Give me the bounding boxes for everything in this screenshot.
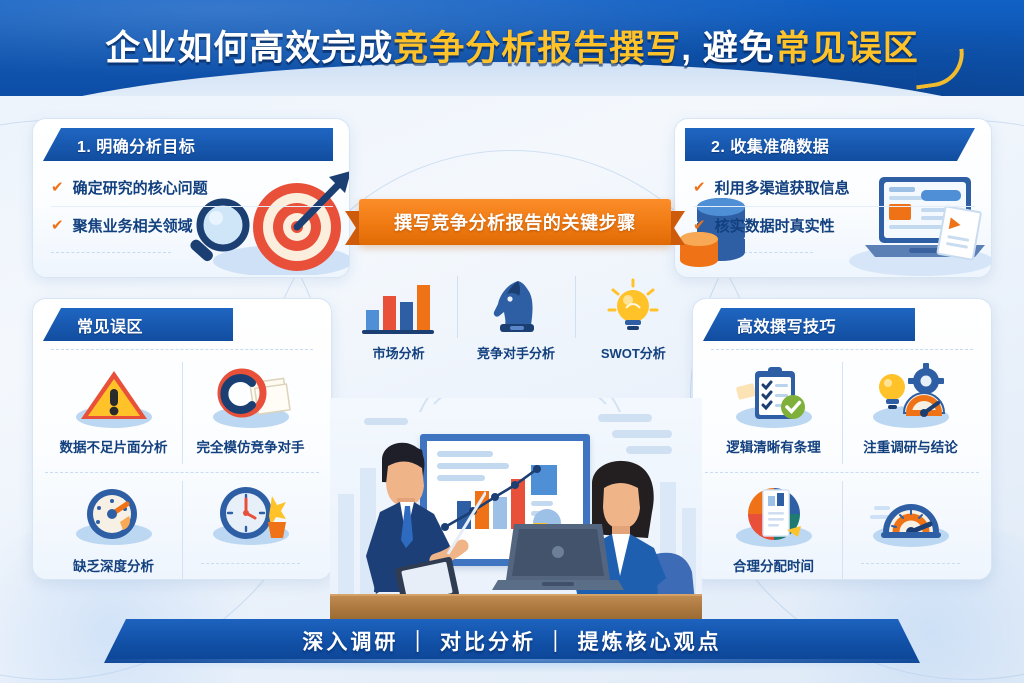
warning-triangle-icon: [71, 360, 157, 432]
mistake-label: 完全模仿竞争对手: [197, 436, 305, 456]
center-ribbon: 撰写竞争分析报告的关键步骤: [345, 199, 685, 251]
list-item-label: 确定研究的核心问题: [73, 177, 208, 198]
lightbulb-icon: [605, 278, 661, 336]
step-label: 市场分析: [373, 343, 425, 362]
page-title-part3: , 避免: [681, 29, 774, 68]
tip-label: 注重调研与结论: [863, 436, 958, 456]
key-steps-row: 市场分析 竞争对手分析: [340, 266, 692, 362]
step-label: 竞争对手分析: [477, 343, 555, 362]
gauge-icon: [71, 479, 157, 551]
tip-label-placeholder: [861, 563, 960, 564]
list-item[interactable]: ✔ 聚焦业务相关领域: [51, 206, 333, 243]
footer-text: 深入调研 ｜ 对比分析 ｜ 提炼核心观点: [302, 626, 721, 656]
grid-row: 逻辑清晰有条理: [705, 354, 979, 472]
tip-item-4[interactable]: [842, 473, 979, 580]
page-title: 企业如何高效完成竞争分析报告撰写, 避免常见误区: [0, 20, 1024, 71]
check-icon: ✔: [51, 218, 64, 233]
mistake-item-2[interactable]: 完全模仿竞争对手: [182, 354, 319, 472]
business-presentation-illustration: [330, 398, 702, 630]
page-title-part1: 企业如何高效完成: [105, 29, 393, 68]
mistake-label: 数据不足片面分析: [60, 436, 168, 456]
bar-chart-icon: [360, 278, 438, 336]
ribbon-label: 撰写竞争分析报告的关键步骤: [359, 199, 671, 245]
mistake-label-placeholder: [201, 563, 300, 564]
tip-label: 合理分配时间: [733, 555, 814, 575]
pie-chart-report-icon: [731, 479, 817, 551]
tip-item-3[interactable]: 合理分配时间: [705, 473, 842, 580]
panel-collect-data-list: ✔ 利用多渠道获取信息 ✔ 核实数据时真实性: [675, 161, 991, 243]
panel-writing-tips: 高效撰写技巧: [692, 298, 992, 580]
check-icon: ✔: [693, 180, 706, 195]
list-item-label: 利用多渠道获取信息: [715, 177, 850, 198]
lightbulb-gear-gauge-icon: [868, 360, 954, 432]
panel-divider: [51, 252, 171, 253]
list-item-label: 核实数据时真实性: [715, 215, 835, 236]
grid-row: 缺乏深度分析: [45, 472, 319, 580]
page-title-part2: 竞争分析报告撰写: [393, 29, 681, 68]
grid-row: 合理分配时间: [705, 472, 979, 580]
mistake-label: 缺乏深度分析: [73, 555, 154, 575]
laptop-icon: [492, 518, 628, 604]
speedometer-icon: [868, 479, 954, 551]
tip-item-2[interactable]: 注重调研与结论: [842, 354, 979, 472]
prohibition-copy-icon: [208, 360, 294, 432]
grid-row: 数据不足片面分析 完全模仿竞争对手: [45, 354, 319, 472]
panel-define-goals-heading: 1. 明确分析目标: [43, 128, 333, 161]
page-title-part4: 常见误区: [775, 29, 919, 68]
list-item[interactable]: ✔ 利用多渠道获取信息: [693, 169, 975, 206]
step-label: SWOT分析: [601, 343, 666, 362]
mistake-item-3[interactable]: 缺乏深度分析: [45, 473, 182, 580]
tip-label: 逻辑清晰有条理: [726, 436, 821, 456]
mistake-item-4[interactable]: [182, 473, 319, 580]
tip-item-1[interactable]: 逻辑清晰有条理: [705, 354, 842, 472]
panel-common-mistakes-heading: 常见误区: [43, 308, 233, 341]
step-swot-analysis[interactable]: SWOT分析: [575, 266, 692, 362]
check-icon: ✔: [693, 218, 706, 233]
step-market-analysis[interactable]: 市场分析: [340, 266, 457, 362]
panel-common-mistakes: 常见误区 数据不足片面分析: [32, 298, 332, 580]
mistake-item-1[interactable]: 数据不足片面分析: [45, 354, 182, 472]
panel-collect-data-heading: 2. 收集准确数据: [685, 128, 975, 161]
list-item[interactable]: ✔ 确定研究的核心问题: [51, 169, 333, 206]
footer-glow: [60, 659, 964, 673]
panel-collect-data: 2. 收集准确数据: [674, 118, 992, 278]
mistakes-grid: 数据不足片面分析 完全模仿竞争对手: [33, 350, 331, 580]
alarm-clock-icon: [208, 479, 294, 551]
panel-writing-tips-heading: 高效撰写技巧: [703, 308, 915, 341]
chess-knight-icon: [488, 278, 544, 336]
list-item-label: 聚焦业务相关领域: [73, 215, 193, 236]
footer-bar: 深入调研 ｜ 对比分析 ｜ 提炼核心观点: [104, 619, 920, 663]
step-competitor-analysis[interactable]: 竞争对手分析: [457, 266, 574, 362]
footer-banner: 深入调研 ｜ 对比分析 ｜ 提炼核心观点: [0, 619, 1024, 667]
tips-grid: 逻辑清晰有条理: [693, 350, 991, 580]
list-item[interactable]: ✔ 核实数据时真实性: [693, 206, 975, 243]
panel-define-goals: 1. 明确分析目标 ✔ 确定研究的核心问题 ✔ 聚焦业务相关领域: [32, 118, 350, 278]
checklist-clipboard-icon: [731, 360, 817, 432]
panel-define-goals-list: ✔ 确定研究的核心问题 ✔ 聚焦业务相关领域: [33, 161, 349, 243]
check-icon: ✔: [51, 180, 64, 195]
